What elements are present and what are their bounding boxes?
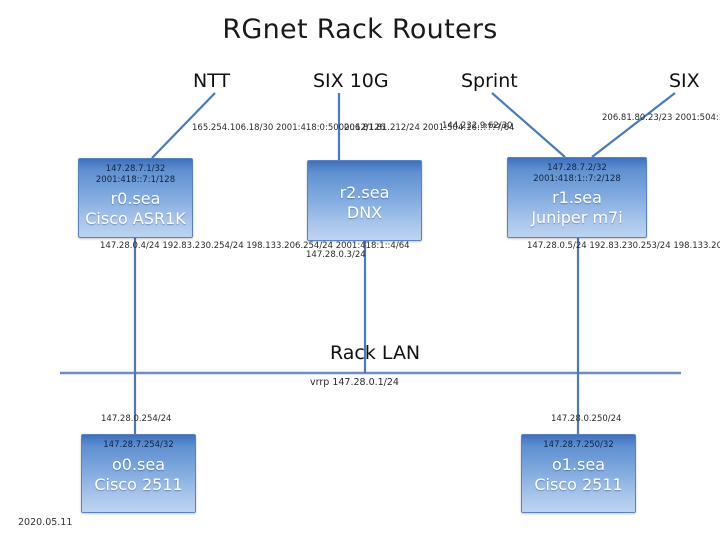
rack-lan-vrrp: vrrp 147.28.0.1/24 xyxy=(310,377,399,388)
router-r1-model: Juniper m7i xyxy=(531,208,622,227)
console-node-o1[interactable]: 147.28.7.250/32 o1.sea Cisco 2511 xyxy=(521,434,636,513)
router-node-r1[interactable]: 147.28.7.2/32 2001:418:1::7:2/128 r1.sea… xyxy=(507,157,647,238)
link-addresses-six: 206.81.80.23/23 2001:504:16::c3a/64 xyxy=(602,113,720,124)
console-o0-loopback: 147.28.7.254/32 xyxy=(103,440,173,451)
peer-label-ntt: NTT xyxy=(193,70,230,92)
router-r0-loopbacks: 147.28.7.1/32 2001:418::7:1/128 xyxy=(96,164,175,185)
router-r2-name: r2.sea xyxy=(340,183,390,202)
console-o1-loopback: 147.28.7.250/32 xyxy=(543,440,613,451)
router-node-r0[interactable]: 147.28.7.1/32 2001:418::7:1/128 r0.sea C… xyxy=(78,158,193,238)
router-r1-name: r1.sea xyxy=(552,188,602,207)
console-o0-model: Cisco 2511 xyxy=(94,475,182,494)
router-r0-model: Cisco ASR1K xyxy=(85,209,186,228)
page-title: RGnet Rack Routers xyxy=(0,14,720,45)
lan-addresses-r1: 147.28.0.5/24 192.83.230.253/24 198.133.… xyxy=(527,241,720,252)
router-r0-name: r0.sea xyxy=(111,189,161,208)
router-r1-loopbacks: 147.28.7.2/32 2001:418:1::7:2/128 xyxy=(533,163,621,184)
console-o1-name: o1.sea xyxy=(552,455,605,474)
console-o1-model: Cisco 2511 xyxy=(534,475,622,494)
router-r2-model: DNX xyxy=(347,203,382,222)
lan-address-o0: 147.28.0.254/24 xyxy=(101,414,171,425)
lan-address-o1: 147.28.0.250/24 xyxy=(551,414,621,425)
lan-addresses-r2: 147.28.0.3/24 xyxy=(306,250,366,261)
link-addresses-sprint: 144.232.9.62/30 xyxy=(442,121,512,132)
console-node-o0[interactable]: 147.28.7.254/32 o0.sea Cisco 2511 xyxy=(81,434,196,513)
peer-label-six: SIX xyxy=(669,70,700,92)
network-diagram-canvas: RGnet Rack Routers NTT SIX 10G Sprint SI… xyxy=(0,0,720,540)
router-node-r2[interactable]: r2.sea DNX xyxy=(307,160,422,241)
console-o0-name: o0.sea xyxy=(112,455,165,474)
peer-label-sprint: Sprint xyxy=(461,70,518,92)
rack-lan-title: Rack LAN xyxy=(330,342,420,364)
link-six-r1 xyxy=(592,93,675,157)
peer-label-six-10g: SIX 10G xyxy=(313,70,389,92)
datestamp: 2020.05.11 xyxy=(18,517,72,528)
